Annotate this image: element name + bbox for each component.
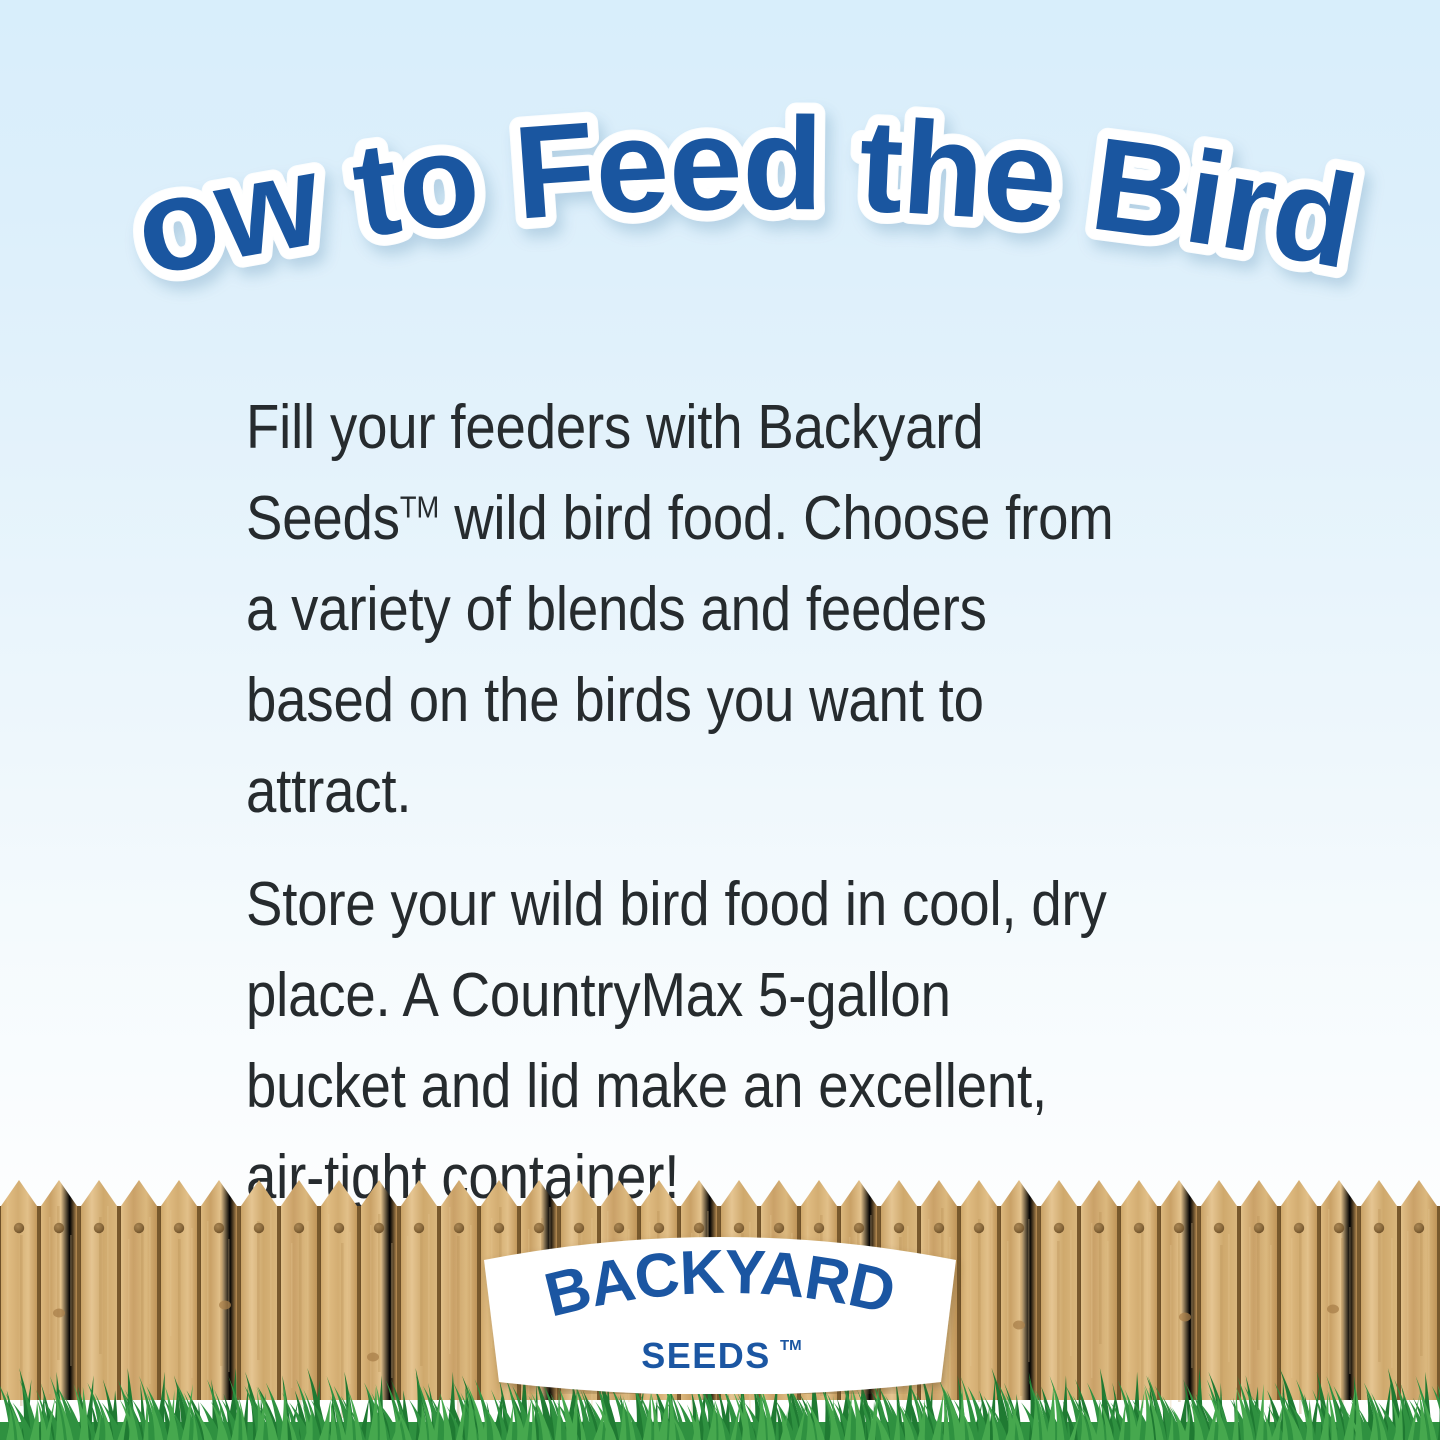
wood-grain (1191, 1223, 1193, 1368)
wood-grain (1428, 1209, 1430, 1392)
fence-gap (1157, 1206, 1160, 1400)
title-shadow-layer: How to Feed the Birds (0, 96, 1366, 304)
logo-trademark: TM (780, 1337, 802, 1354)
paragraph-1: Fill your feeders with Backyard SeedsTM … (246, 382, 1117, 837)
fence-picket (1, 1180, 37, 1400)
fence-gap (37, 1206, 40, 1400)
fence-nail-icon (54, 1223, 64, 1233)
wood-grain (378, 1214, 381, 1372)
wood-grain (1220, 1245, 1223, 1396)
wood-grain (1141, 1223, 1144, 1408)
wood-grain (1420, 1220, 1423, 1356)
wood-grain (70, 1235, 72, 1366)
wood-grain (391, 1243, 393, 1378)
wood-knot (367, 1353, 379, 1362)
wood-grain (420, 1225, 423, 1366)
fence-nail-icon (334, 1223, 344, 1233)
fence-nail-icon (1254, 1223, 1264, 1233)
fence-nail-icon (1414, 1223, 1424, 1233)
wood-grain (307, 1221, 309, 1390)
wood-grain (28, 1224, 30, 1372)
wood-grain (207, 1221, 209, 1400)
fence-nail-icon (974, 1223, 984, 1233)
title-fill-textpath: How to Feed the Birds (0, 96, 1366, 304)
wood-grain (99, 1217, 102, 1354)
wood-grain (1170, 1245, 1172, 1436)
fence-gap (437, 1206, 440, 1400)
wood-grain (270, 1210, 272, 1396)
trademark-symbol: TM (400, 489, 439, 524)
wood-grain (1028, 1219, 1030, 1362)
title-svg: How to Feed the Birds How to Feed the Bi… (0, 96, 1440, 326)
wood-grain (991, 1208, 993, 1368)
wood-grain (1128, 1234, 1130, 1372)
fence-gap (1077, 1206, 1080, 1400)
wood-grain (149, 1217, 151, 1384)
fence-gap (1357, 1206, 1360, 1400)
fence-nail-icon (454, 1223, 464, 1233)
fence-nail-icon (94, 1223, 104, 1233)
wood-grain (407, 1236, 409, 1400)
fence-gap (317, 1206, 320, 1400)
title-outline-layer: How to Feed the Birds (0, 96, 1366, 304)
wood-grain (128, 1239, 130, 1382)
wood-grain (257, 1221, 260, 1360)
fence-nail-icon (1334, 1223, 1344, 1233)
wood-grain (1307, 1216, 1309, 1380)
wood-grain (49, 1217, 51, 1394)
wood-grain (370, 1225, 372, 1406)
wood-grain (1057, 1241, 1060, 1390)
wood-grain (457, 1236, 460, 1430)
wood-grain (341, 1243, 344, 1418)
title-outline-textpath: How to Feed the Birds (0, 96, 1366, 304)
wood-grain (328, 1214, 330, 1342)
fence-nail-icon (174, 1223, 184, 1233)
wood-grain (1370, 1220, 1372, 1396)
fence-nail-icon (1014, 1223, 1024, 1233)
fence-nail-icon (214, 1223, 224, 1233)
fence-gap (237, 1206, 240, 1400)
wood-grain (170, 1210, 172, 1336)
wood-grain (1341, 1238, 1344, 1408)
fence-picket (1201, 1180, 1237, 1400)
fence-gap (997, 1206, 1000, 1400)
wood-grain (349, 1232, 351, 1384)
fence-gap (117, 1206, 120, 1400)
fence-gap (77, 1206, 80, 1400)
poster-title: How to Feed the Birds How to Feed the Bi… (0, 96, 1440, 326)
wood-grain (7, 1206, 9, 1400)
fence-gap (1237, 1206, 1240, 1400)
fence-gap (397, 1206, 400, 1400)
fence-gap (277, 1206, 280, 1400)
fence-picket (1121, 1180, 1157, 1400)
title-shadow-textpath: How to Feed the Birds (0, 96, 1366, 304)
wood-knot (1327, 1305, 1339, 1314)
wood-grain (1107, 1241, 1109, 1420)
backyard-seeds-logo: BACKYARD BACKYARD SEEDS TM (466, 1222, 974, 1394)
wood-grain (1091, 1223, 1093, 1378)
fence-gap (1197, 1206, 1200, 1400)
fence-nail-icon (1094, 1223, 1104, 1233)
fence-picket (1001, 1180, 1037, 1400)
fence-picket (1401, 1180, 1437, 1400)
wood-grain (1249, 1227, 1251, 1384)
fence-picket (321, 1180, 357, 1400)
wood-knot (53, 1309, 65, 1318)
fence-nail-icon (374, 1223, 384, 1233)
fence-gap (197, 1206, 200, 1400)
wood-grain (291, 1243, 293, 1388)
fence-gap (1117, 1206, 1120, 1400)
wood-grain (1070, 1230, 1072, 1356)
wood-grain (1020, 1230, 1023, 1396)
wood-grain (107, 1206, 109, 1390)
fence-nail-icon (414, 1223, 424, 1233)
wood-grain (1207, 1216, 1209, 1390)
fence-picket (201, 1180, 237, 1400)
fence-gap (357, 1206, 360, 1400)
wood-grain (191, 1228, 193, 1378)
wood-grain (1149, 1212, 1151, 1374)
fence-nail-icon (1054, 1223, 1064, 1233)
wood-grain (1228, 1234, 1230, 1362)
wood-knot (1013, 1321, 1025, 1330)
wood-grain (1349, 1227, 1351, 1374)
logo-sub-name: SEEDS (641, 1335, 771, 1376)
fence-nail-icon (1374, 1223, 1384, 1233)
fence-nail-icon (1214, 1223, 1224, 1233)
wood-knot (219, 1301, 231, 1310)
wood-grain (1257, 1216, 1260, 1350)
wood-grain (1299, 1227, 1302, 1414)
title-fill-layer: How to Feed the Birds (0, 96, 1366, 304)
fence-nail-icon (1294, 1223, 1304, 1233)
wood-grain (978, 1219, 981, 1402)
wood-grain (1391, 1238, 1393, 1368)
wood-grain (91, 1228, 93, 1388)
wood-knot (1179, 1313, 1191, 1322)
fence-nail-icon (14, 1223, 24, 1233)
fence-gap (1317, 1206, 1320, 1400)
fence-gap (157, 1206, 160, 1400)
logo-svg: BACKYARD BACKYARD SEEDS TM (466, 1222, 974, 1394)
body-copy: Fill your feeders with Backyard SeedsTM … (246, 382, 1236, 1223)
fence-nail-icon (1134, 1223, 1144, 1233)
fence-picket (121, 1180, 157, 1400)
wood-grain (1291, 1238, 1293, 1378)
fence-nail-icon (134, 1223, 144, 1233)
wood-grain (249, 1232, 251, 1394)
poster-canvas: How to Feed the Birds How to Feed the Bi… (0, 0, 1440, 1440)
fence-picket (1321, 1180, 1357, 1400)
wood-grain (1407, 1231, 1409, 1390)
wood-grain (449, 1207, 451, 1354)
wood-grain (220, 1210, 223, 1366)
wood-grain (428, 1214, 430, 1402)
fence-gap (1277, 1206, 1280, 1400)
wood-grain (1049, 1212, 1051, 1384)
fence-gap (1037, 1206, 1040, 1400)
fence-gap (1397, 1206, 1400, 1400)
fence-nail-icon (294, 1223, 304, 1233)
fence-nail-icon (1174, 1223, 1184, 1233)
fence-picket (401, 1180, 437, 1400)
fence-nail-icon (254, 1223, 264, 1233)
